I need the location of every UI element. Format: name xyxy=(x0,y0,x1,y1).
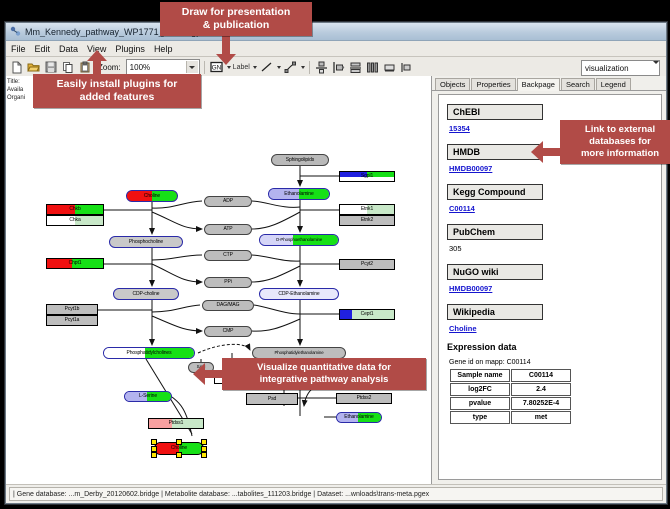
gene-node[interactable]: Pcyt1b xyxy=(46,304,98,315)
visualization-combobox[interactable]: visualization xyxy=(581,60,660,76)
node-label: Phosphatidylethanolamine xyxy=(274,351,323,355)
metabolite-node[interactable]: Choline xyxy=(126,190,178,202)
visualization-value: visualization xyxy=(585,64,629,73)
annotation-visualize-arrow xyxy=(193,363,205,385)
backpage-link-wikipedia[interactable]: Choline xyxy=(449,324,653,333)
backpage-link-hmdb[interactable]: HMDB00097 xyxy=(449,164,653,173)
table-cell-value: met xyxy=(511,411,571,424)
gene-node[interactable]: Psd xyxy=(246,393,298,405)
node-label: Psd xyxy=(268,397,276,402)
datanode-dropdown-icon[interactable] xyxy=(227,66,231,69)
metabolite-node[interactable]: DAG/MAG xyxy=(202,300,254,311)
save-icon[interactable] xyxy=(43,60,58,75)
node-label: Sphingolipids xyxy=(286,158,314,163)
node-label: Phosphocholine xyxy=(129,240,163,245)
table-row: Sample name C00114 xyxy=(450,369,571,382)
node-label: CTP xyxy=(223,253,233,258)
menu-item-edit[interactable]: Edit xyxy=(35,44,51,54)
table-cell-value: C00114 xyxy=(511,369,571,382)
metabolite-node[interactable]: Sphingolipids xyxy=(271,154,329,166)
annotation-plugins-arrow xyxy=(87,50,107,61)
table-row: log2FC 2.4 xyxy=(450,383,571,396)
selection-handle[interactable] xyxy=(151,446,157,452)
svg-text:GN: GN xyxy=(211,64,221,71)
backpage-header-nugo: NuGO wiki xyxy=(447,264,543,280)
line-dropdown-icon[interactable] xyxy=(277,66,281,69)
order-icon[interactable] xyxy=(399,60,414,75)
pathvisio-icon xyxy=(10,26,21,37)
backpage-header-hmdb: HMDB xyxy=(447,144,543,160)
node-label: ADP xyxy=(223,199,233,204)
node-label: O-Phosphoethanolamine xyxy=(276,238,322,242)
line-icon[interactable] xyxy=(259,60,274,75)
tab-search[interactable]: Search xyxy=(561,78,595,90)
metabolite-node[interactable]: ADP xyxy=(204,196,252,207)
annotation-draw: Draw for presentation& publication xyxy=(160,2,312,36)
metabolite-node[interactable]: L-Serine xyxy=(124,391,172,402)
gene-node[interactable]: Sgpl1 xyxy=(339,171,395,182)
expression-data-title: Expression data xyxy=(447,342,653,352)
node-label: PPi xyxy=(224,280,231,285)
node-label: Sgpl1 xyxy=(361,174,373,179)
node-label: Etnk1 xyxy=(361,207,373,212)
zoom-label: Zoom: xyxy=(98,63,121,72)
zoom-combobox[interactable]: 100% xyxy=(126,59,200,75)
backpage-value-pubchem: 305 xyxy=(449,244,653,253)
menu-item-plugins[interactable]: Plugins xyxy=(115,44,145,54)
node-label: Ptdss1 xyxy=(169,421,184,426)
annotation-plugins-text: Easily install plugins foradded features xyxy=(57,78,178,103)
title-bar: Mm_Kennedy_pathway_WP1771_45176.gpml xyxy=(6,23,666,41)
metabolite-node[interactable]: CMP xyxy=(204,326,252,337)
metabolite-node[interactable]: Ethanolamine xyxy=(268,188,330,200)
node-label: Pcyt1a xyxy=(65,318,80,323)
menu-item-help[interactable]: Help xyxy=(154,44,173,54)
gene-node[interactable]: Cept1 xyxy=(339,309,395,320)
selection-handle[interactable] xyxy=(176,452,182,458)
node-label: Choline xyxy=(171,446,187,451)
metabolite-node[interactable]: PPi xyxy=(204,277,252,288)
menu-item-file[interactable]: File xyxy=(11,44,26,54)
node-label: Etnk2 xyxy=(361,218,373,223)
toolbar-separator xyxy=(204,61,205,74)
node-fill-left xyxy=(340,310,352,319)
gene-node[interactable]: Ptdss1 xyxy=(148,418,204,429)
group-icon[interactable] xyxy=(382,60,397,75)
node-label: Choline xyxy=(144,194,160,199)
gene-node[interactable]: Chka xyxy=(46,215,104,226)
chevron-down-icon[interactable] xyxy=(186,61,198,73)
tab-backpage[interactable]: Backpage xyxy=(517,78,560,91)
table-cell-value: 7.80252E-4 xyxy=(511,397,571,410)
open-folder-icon[interactable] xyxy=(26,60,41,75)
stack-icon[interactable] xyxy=(348,60,363,75)
gene-node[interactable]: Chkb xyxy=(46,204,104,215)
tab-properties[interactable]: Properties xyxy=(471,78,515,90)
side-panel-tabs[interactable]: Objects Properties Backpage Search Legen… xyxy=(432,76,666,91)
node-label: Chkb xyxy=(69,207,80,212)
annotation-links-arrow xyxy=(531,141,543,163)
table-row: type met xyxy=(450,411,571,424)
backpage-link-nugo[interactable]: HMDB00097 xyxy=(449,284,653,293)
table-cell-value: 2.4 xyxy=(511,383,571,396)
annotation-plugins: Easily install plugins foradded features xyxy=(33,74,201,108)
metabolite-node[interactable]: O-Phosphoethanolamine xyxy=(259,234,339,246)
annotation-links-text: Link to externaldatabases formore inform… xyxy=(581,124,659,159)
backpage-header-pubchem: PubChem xyxy=(447,224,543,240)
backpage-header-wikipedia: Wikipedia xyxy=(447,304,543,320)
screenshot-root: Mm_Kennedy_pathway_WP1771_45176.gpml Fil… xyxy=(0,0,670,509)
annotation-draw-stem xyxy=(222,36,230,56)
node-label: Ethanolamine xyxy=(284,192,313,197)
node-label: CDP-choline xyxy=(133,292,160,297)
node-label: Cept1 xyxy=(361,312,374,317)
selection-handle[interactable] xyxy=(176,439,182,445)
gene-node[interactable]: Etnk2 xyxy=(339,215,395,226)
gene-node[interactable]: Etnk1 xyxy=(339,204,395,215)
backpage-header-kegg: Kegg Compound xyxy=(447,184,543,200)
metabolite-node[interactable]: Phosphocholine xyxy=(109,236,183,248)
node-label: Ptdss2 xyxy=(357,396,372,401)
node-label: Phosphatidylcholines xyxy=(127,351,172,356)
annotation-visualize-text: Visualize quantitative data forintegrati… xyxy=(257,362,391,385)
node-label: CDP-Ethanolamine xyxy=(278,292,319,297)
gene-id-line: Gene id on mapp: C00114 xyxy=(449,359,653,366)
gene-node[interactable]: Pcyt2 xyxy=(339,259,395,270)
node-label: Ethanolamine xyxy=(344,415,373,420)
metabolite-node[interactable]: Ethanolamine xyxy=(336,412,382,423)
node-label: ATP xyxy=(223,227,232,232)
metabolite-node[interactable]: CTP xyxy=(204,250,252,261)
node-label: Pcyt2 xyxy=(361,262,373,267)
annotation-visualize: Visualize quantitative data forintegrati… xyxy=(222,358,426,390)
menu-item-data[interactable]: Data xyxy=(59,44,78,54)
annotation-draw-text: Draw for presentation& publication xyxy=(182,6,291,31)
pathway-diagram[interactable]: SphingolipidsEthanolamineO-Phosphoethano… xyxy=(6,76,431,484)
table-cell-key: type xyxy=(450,411,510,424)
table-cell-key: pvalue xyxy=(450,397,510,410)
selection-handle[interactable] xyxy=(151,439,157,445)
metabolite-node[interactable]: ATP xyxy=(204,224,252,235)
table-cell-key: log2FC xyxy=(450,383,510,396)
expression-table: Sample name C00114 log2FC 2.4 pvalue 7.8… xyxy=(449,368,572,425)
metabolite-node[interactable]: CDP-Ethanolamine xyxy=(259,288,339,300)
gene-node[interactable]: Chpt1 xyxy=(46,258,104,269)
zoom-value: 100% xyxy=(130,63,150,72)
backpage-link-kegg[interactable]: C00114 xyxy=(449,204,653,213)
chevron-down-icon[interactable] xyxy=(653,64,659,73)
toolbar-separator xyxy=(309,61,310,74)
status-bar: | Gene database: ...m_Derby_20120602.bri… xyxy=(6,484,666,503)
table-row: pvalue 7.80252E-4 xyxy=(450,397,571,410)
label-dropdown-icon[interactable] xyxy=(253,66,257,69)
tab-legend[interactable]: Legend xyxy=(596,78,631,90)
anchor-line-icon[interactable] xyxy=(283,60,298,75)
metabolite-node[interactable]: CDP-choline xyxy=(113,288,179,300)
node-label: Pcyt1b xyxy=(65,307,80,312)
node-label: Chka xyxy=(69,218,80,223)
gene-node[interactable]: Ptdss2 xyxy=(336,393,392,404)
paste-icon[interactable] xyxy=(77,60,92,75)
anchor-dropdown-icon[interactable] xyxy=(301,66,305,69)
selection-handle[interactable] xyxy=(201,439,207,445)
tab-objects[interactable]: Objects xyxy=(435,78,470,90)
pathway-canvas-pane[interactable]: Title: Availa Organi xyxy=(6,76,432,484)
annotation-draw-arrow xyxy=(216,54,236,65)
space-icon[interactable] xyxy=(365,60,380,75)
new-file-icon[interactable] xyxy=(9,60,24,75)
align-icon[interactable] xyxy=(314,60,329,75)
node-label: DAG/MAG xyxy=(217,303,240,308)
annotation-links: Link to externaldatabases formore inform… xyxy=(560,120,670,164)
node-label: L-Serine xyxy=(139,394,157,399)
table-cell-key: Sample name xyxy=(450,369,510,382)
node-label: Chpt1 xyxy=(69,261,82,266)
node-label: CMP xyxy=(223,329,234,334)
selection-handle[interactable] xyxy=(201,446,207,452)
status-text: | Gene database: ...m_Derby_20120602.bri… xyxy=(13,491,429,498)
backpage-header-chebi: ChEBI xyxy=(447,104,543,120)
distribute-icon[interactable] xyxy=(331,60,346,75)
selection-handle[interactable] xyxy=(201,452,207,458)
status-field: | Gene database: ...m_Derby_20120602.bri… xyxy=(9,487,663,501)
copy-icon[interactable] xyxy=(60,60,75,75)
metabolite-node[interactable]: Phosphatidylcholines xyxy=(103,347,195,359)
selection-handle[interactable] xyxy=(151,452,157,458)
gene-node[interactable]: Pcyt1a xyxy=(46,315,98,326)
